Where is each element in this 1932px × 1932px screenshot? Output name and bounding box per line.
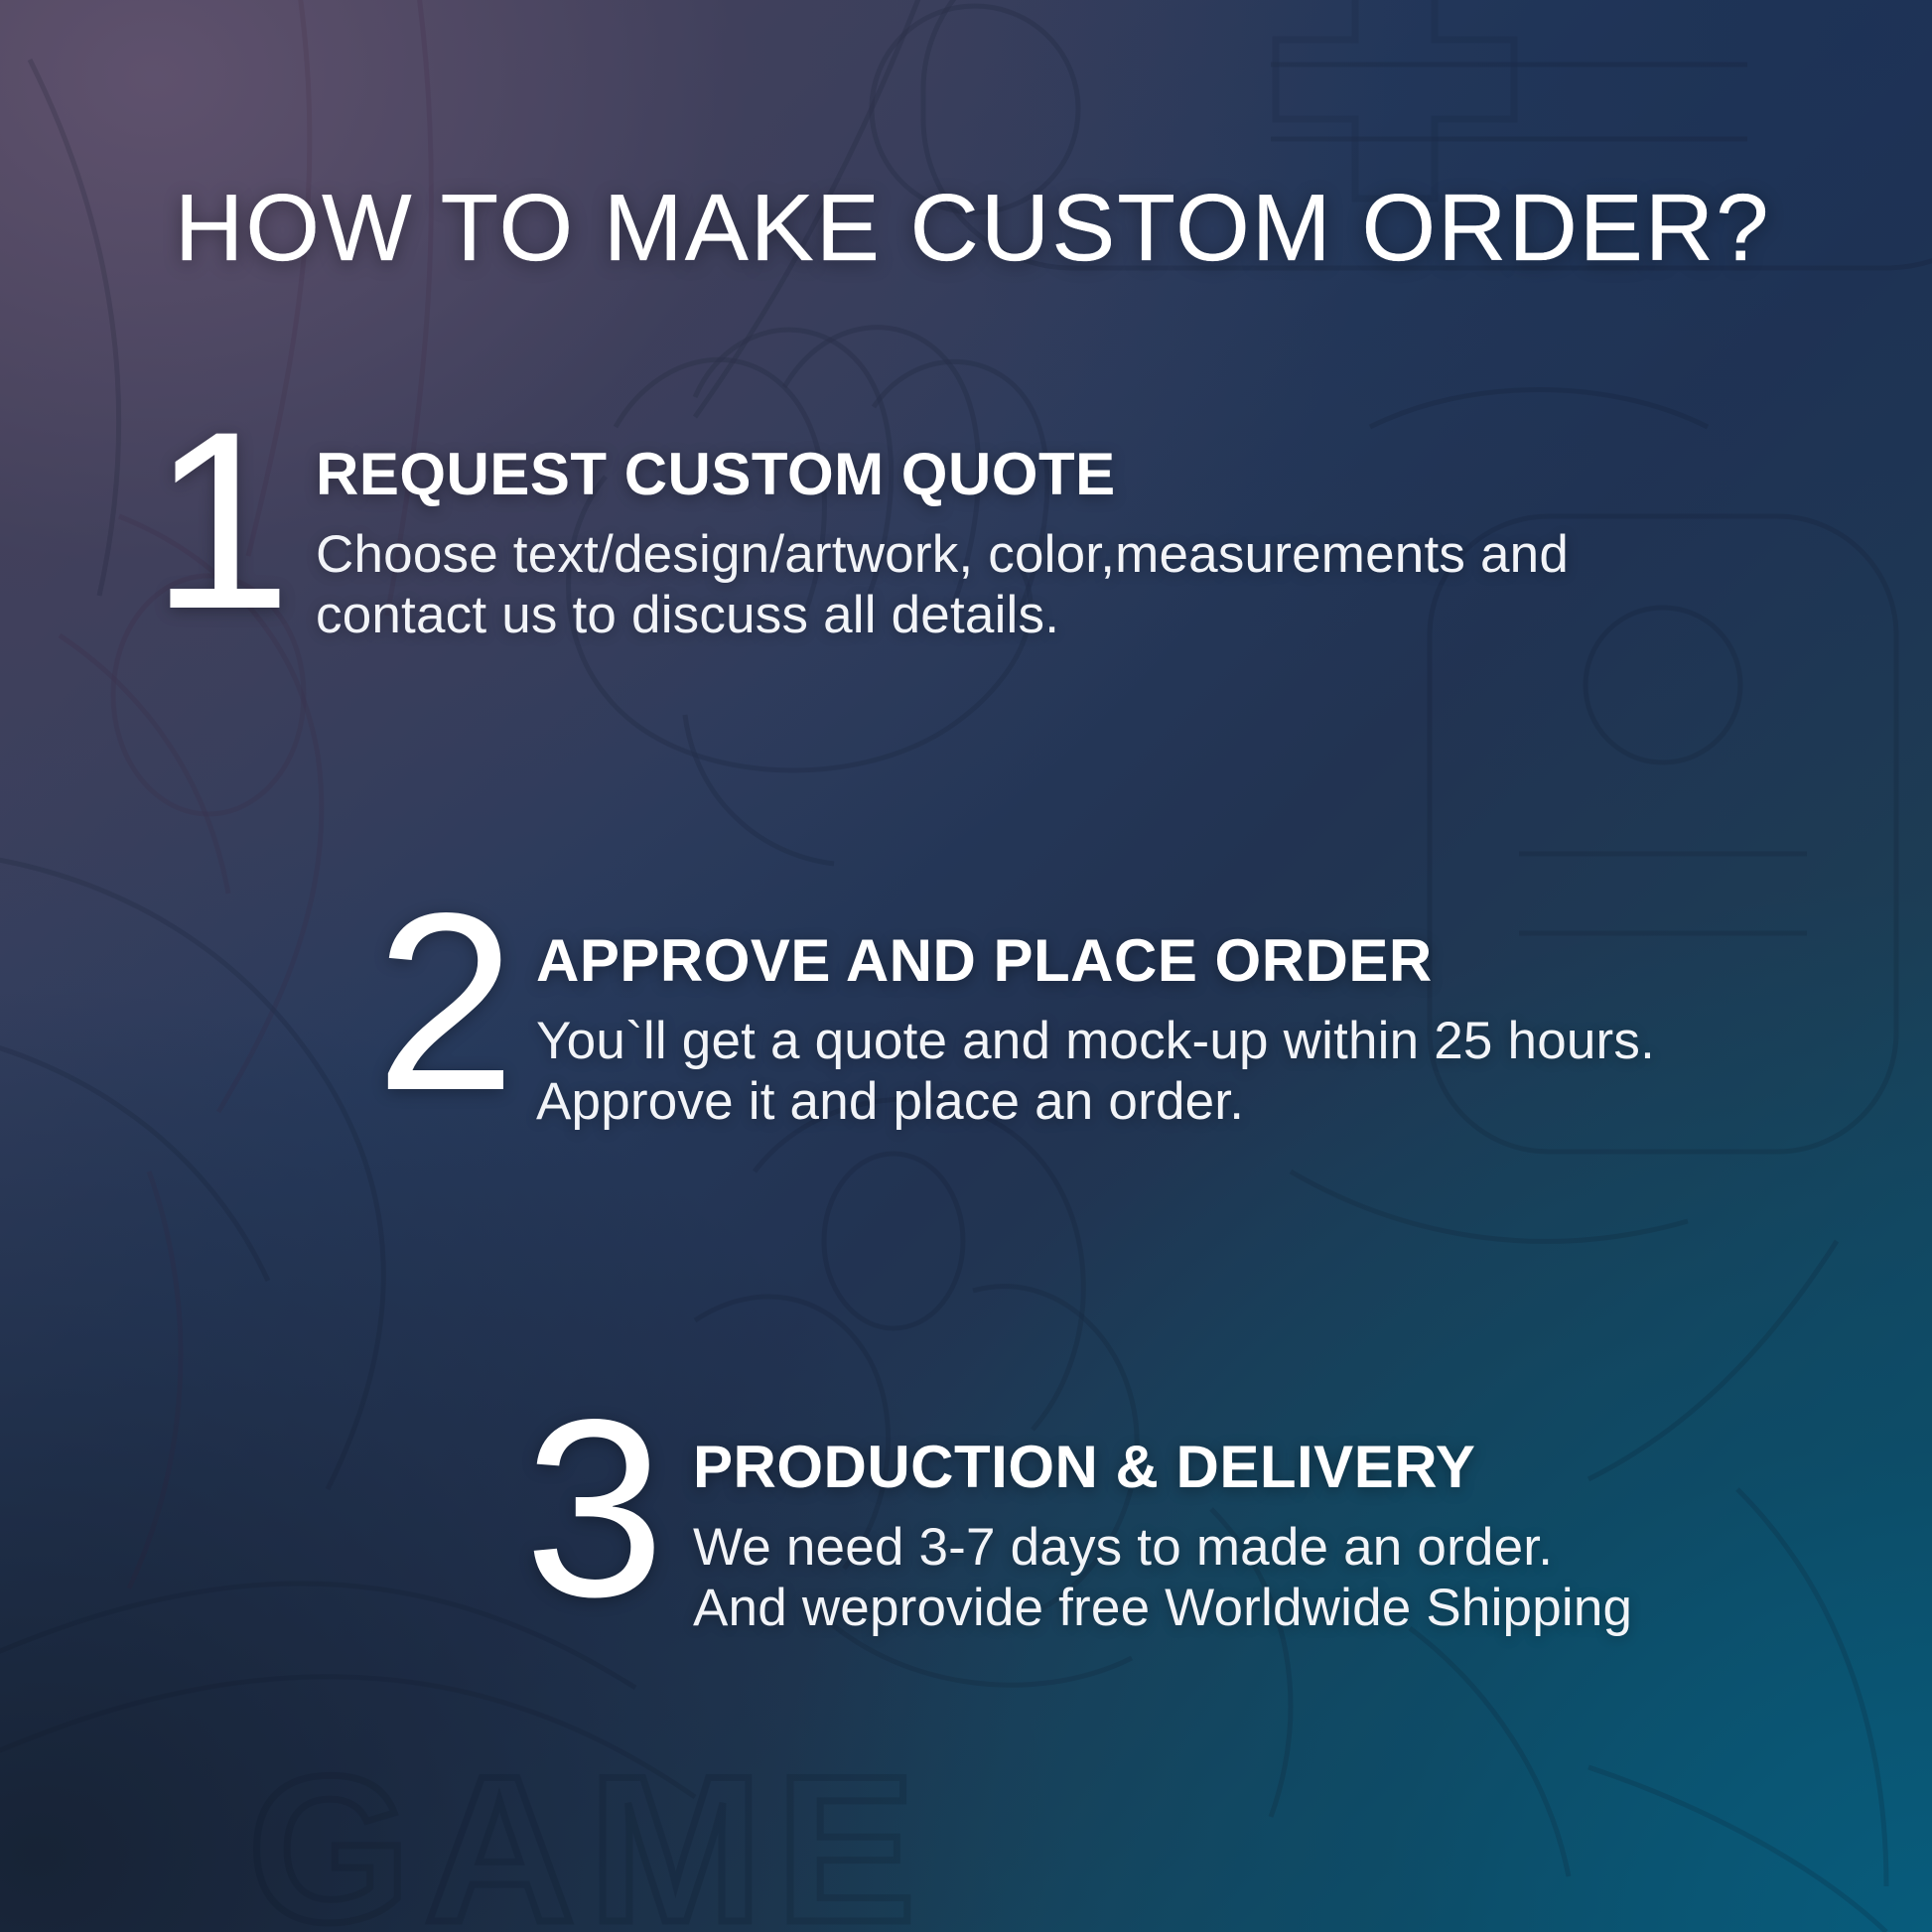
step-number-2: 2 — [375, 898, 512, 1106]
step-body-line: You`ll get a quote and mock-up within 25… — [536, 1011, 1926, 1071]
step-text-column-3: PRODUCTION & DELIVERY We need 3-7 days t… — [693, 1438, 1932, 1639]
step-text-column-2: APPROVE AND PLACE ORDER You`ll get a quo… — [536, 931, 1926, 1133]
step-heading-1: REQUEST CUSTOM QUOTE — [316, 445, 1805, 504]
step-body-line: And weprovide free Worldwide Shipping — [693, 1578, 1932, 1638]
step-heading-3: PRODUCTION & DELIVERY — [693, 1438, 1932, 1497]
step-body-2: You`ll get a quote and mock-up within 25… — [536, 1011, 1926, 1133]
step-heading-2: APPROVE AND PLACE ORDER — [536, 931, 1926, 991]
step-body-line: Approve it and place an order. — [536, 1071, 1926, 1132]
step-body-line: contact us to discuss all details. — [316, 585, 1805, 645]
step-body-line: Choose text/design/artwork, color,measur… — [316, 524, 1805, 585]
step-number-1: 1 — [151, 417, 288, 624]
step-body-3: We need 3-7 days to made an order. And w… — [693, 1517, 1932, 1639]
step-body-line: We need 3-7 days to made an order. — [693, 1517, 1932, 1578]
page-title: HOW TO MAKE CUSTOM ORDER? — [175, 179, 1803, 279]
step-body-1: Choose text/design/artwork, color,measur… — [316, 524, 1805, 646]
step-number-3: 3 — [524, 1405, 661, 1612]
poster-canvas: GAME HOW TO MAKE CUSTOM ORDER? 1 REQUEST… — [0, 0, 1932, 1932]
step-text-column-1: REQUEST CUSTOM QUOTE Choose text/design/… — [316, 445, 1805, 646]
